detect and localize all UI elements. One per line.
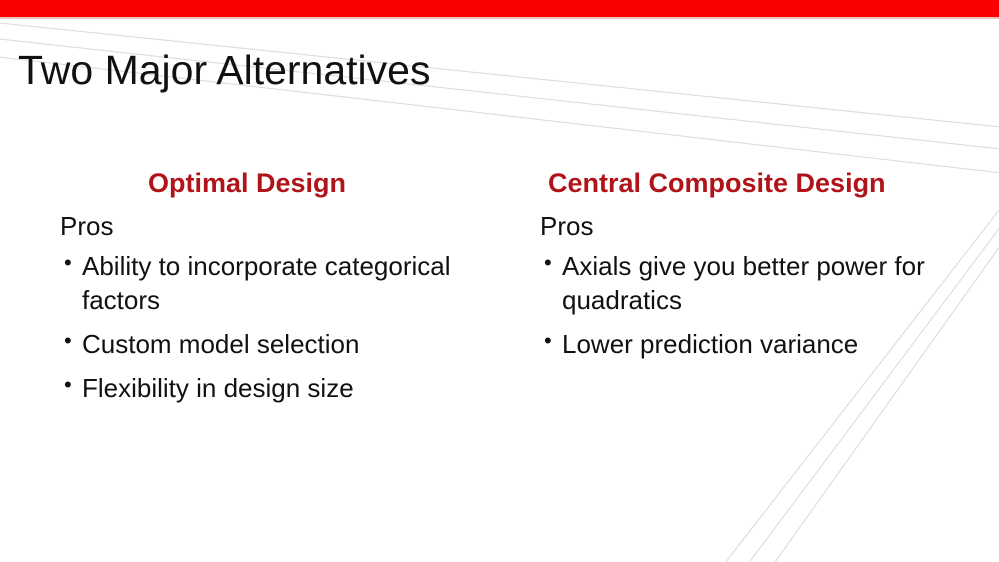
list-item: Ability to incorporate categorical facto… [58,249,526,318]
bullet-list: Ability to incorporate categorical facto… [58,249,526,405]
column-lead-label: Pros [60,211,526,243]
column-optimal-design: Optimal Design Pros Ability to incorpora… [58,168,526,414]
column-lead-label: Pros [540,211,968,243]
page-title: Two Major Alternatives [18,48,430,93]
accent-bar-shadow [0,17,999,19]
list-item: Lower prediction variance [538,327,968,362]
column-heading: Optimal Design [58,168,526,199]
list-item: Flexibility in design size [58,371,526,406]
column-central-composite-design: Central Composite Design Pros Axials giv… [538,168,968,371]
accent-bar [0,0,999,17]
list-item: Axials give you better power for quadrat… [538,249,968,318]
list-item: Custom model selection [58,327,526,362]
bullet-list: Axials give you better power for quadrat… [538,249,968,362]
slide-canvas: Two Major Alternatives Optimal Design Pr… [0,0,999,562]
column-heading: Central Composite Design [538,168,968,199]
